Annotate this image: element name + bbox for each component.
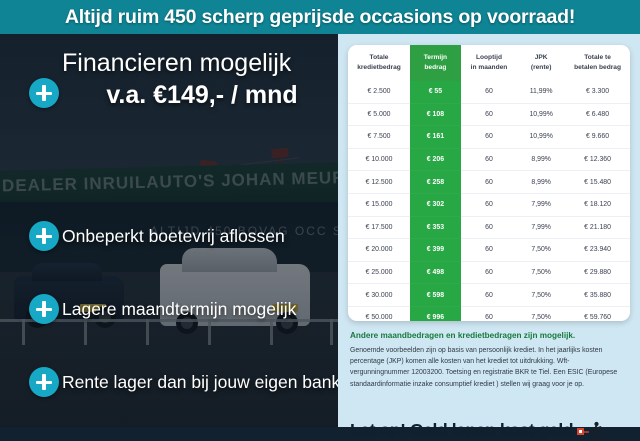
- cell-looptijd: 60: [461, 81, 517, 103]
- cell-totaal: € 35.880: [565, 284, 630, 307]
- cell-jkp: 7,50%: [517, 239, 565, 262]
- table-row: € 10.000€ 206608,99%€ 12.360: [348, 148, 630, 171]
- cell-looptijd: 60: [461, 103, 517, 126]
- cell-krediet: € 7.500: [348, 126, 410, 149]
- cell-termijn: € 353: [410, 216, 461, 239]
- plus-circle-icon: [29, 367, 59, 397]
- cell-jkp: 11,99%: [517, 81, 565, 103]
- cell-totaal: € 59.760: [565, 306, 630, 321]
- table-row: € 5.000€ 1086010,99%€ 6.480: [348, 103, 630, 126]
- cell-totaal: € 9.660: [565, 126, 630, 149]
- cell-jkp: 10,99%: [517, 103, 565, 126]
- cell-totaal: € 12.360: [565, 148, 630, 171]
- disclaimer-title: Andere maandbedragen en kredietbedragen …: [350, 331, 628, 340]
- cell-termijn: € 399: [410, 239, 461, 262]
- cell-krediet: € 10.000: [348, 148, 410, 171]
- table-row: € 25.000€ 498607,50%€ 29.880: [348, 261, 630, 284]
- cell-termijn: € 302: [410, 193, 461, 216]
- running-man-icon: [577, 421, 603, 441]
- finance-table-card: Totale kredietbedrag Termijn bedrag Loop…: [348, 45, 630, 321]
- cell-krediet: € 17.500: [348, 216, 410, 239]
- plus-circle-icon: [29, 221, 59, 251]
- cell-totaal: € 6.480: [565, 103, 630, 126]
- finance-table-body: € 2.500€ 556011,99%€ 3.300€ 5.000€ 10860…: [348, 81, 630, 321]
- plus-circle-icon: [29, 294, 59, 324]
- cell-termijn: € 258: [410, 171, 461, 194]
- promo-headline: Financieren mogelijk v.a. €149,- / mnd: [62, 50, 342, 109]
- cell-jkp: 7,50%: [517, 306, 565, 321]
- col-header-totaal: Totale te betalen bedrag: [565, 45, 630, 81]
- cell-looptijd: 60: [461, 216, 517, 239]
- cell-krediet: € 30.000: [348, 284, 410, 307]
- table-row: € 12.500€ 258608,99%€ 15.480: [348, 171, 630, 194]
- cell-totaal: € 23.940: [565, 239, 630, 262]
- cell-jkp: 7,50%: [517, 261, 565, 284]
- disclaimer-body: Genoemde voorbeelden zijn op basis van p…: [350, 345, 628, 390]
- credit-warning: Let op! Geld lenen kost geld: [350, 420, 628, 441]
- cell-totaal: € 3.300: [565, 81, 630, 103]
- cell-termijn: € 598: [410, 284, 461, 307]
- table-row: € 30.000€ 598607,50%€ 35.880: [348, 284, 630, 307]
- promo-headline-line2: v.a. €149,- / mnd: [62, 82, 342, 108]
- finance-table: Totale kredietbedrag Termijn bedrag Loop…: [348, 45, 630, 321]
- cell-termijn: € 498: [410, 261, 461, 284]
- table-row: € 50.000€ 996607,50%€ 59.760: [348, 306, 630, 321]
- cell-krediet: € 2.500: [348, 81, 410, 103]
- cell-totaal: € 18.120: [565, 193, 630, 216]
- cell-looptijd: 60: [461, 306, 517, 321]
- table-header-row: Totale kredietbedrag Termijn bedrag Loop…: [348, 45, 630, 81]
- promo-headline-line1: Financieren mogelijk: [62, 49, 291, 77]
- cell-looptijd: 60: [461, 148, 517, 171]
- cell-totaal: € 21.180: [565, 216, 630, 239]
- benefits-list: Financieren mogelijk v.a. €149,- / mnd O…: [0, 34, 345, 427]
- cell-krediet: € 25.000: [348, 261, 410, 284]
- cell-jkp: 7,99%: [517, 216, 565, 239]
- cell-termijn: € 55: [410, 81, 461, 103]
- finance-table-head: Totale kredietbedrag Termijn bedrag Loop…: [348, 45, 630, 81]
- promo-banner: Altijd ruim 450 scherp geprijsde occasio…: [0, 0, 640, 34]
- cell-looptijd: 60: [461, 261, 517, 284]
- cell-jkp: 8,99%: [517, 148, 565, 171]
- cell-termijn: € 996: [410, 306, 461, 321]
- col-header-jkp: JPK (rente): [517, 45, 565, 81]
- cell-jkp: 10,99%: [517, 126, 565, 149]
- cell-looptijd: 60: [461, 126, 517, 149]
- plus-circle-icon: [29, 78, 59, 108]
- table-row: € 7.500€ 1616010,99%€ 9.660: [348, 126, 630, 149]
- cell-krediet: € 5.000: [348, 103, 410, 126]
- cell-krediet: € 50.000: [348, 306, 410, 321]
- cell-looptijd: 60: [461, 284, 517, 307]
- cell-krediet: € 15.000: [348, 193, 410, 216]
- cell-looptijd: 60: [461, 193, 517, 216]
- table-row: € 15.000€ 302607,99%€ 18.120: [348, 193, 630, 216]
- table-row: € 20.000€ 399607,50%€ 23.940: [348, 239, 630, 262]
- benefit-item-1: Onbeperkt boetevrij aflossen: [62, 226, 285, 247]
- cell-jkp: 7,99%: [517, 193, 565, 216]
- cell-termijn: € 206: [410, 148, 461, 171]
- cell-krediet: € 20.000: [348, 239, 410, 262]
- table-row: € 2.500€ 556011,99%€ 3.300: [348, 81, 630, 103]
- cell-looptijd: 60: [461, 239, 517, 262]
- cell-totaal: € 15.480: [565, 171, 630, 194]
- disclaimer-block: Andere maandbedragen en kredietbedragen …: [350, 331, 628, 390]
- table-row: € 17.500€ 353607,99%€ 21.180: [348, 216, 630, 239]
- cell-jkp: 7,50%: [517, 284, 565, 307]
- benefit-item-2: Lagere maandtermijn mogelijk: [62, 299, 296, 320]
- cell-termijn: € 161: [410, 126, 461, 149]
- cell-termijn: € 108: [410, 103, 461, 126]
- promo-banner-text: Altijd ruim 450 scherp geprijsde occasio…: [65, 6, 575, 29]
- col-header-looptijd: Looptijd in maanden: [461, 45, 517, 81]
- cell-totaal: € 29.880: [565, 261, 630, 284]
- cell-krediet: € 12.500: [348, 171, 410, 194]
- col-header-krediet: Totale kredietbedrag: [348, 45, 410, 81]
- benefit-item-3: Rente lager dan bij jouw eigen bank: [62, 372, 340, 393]
- finance-info-panel: Totale kredietbedrag Termijn bedrag Loop…: [338, 34, 640, 427]
- cell-looptijd: 60: [461, 171, 517, 194]
- cell-jkp: 8,99%: [517, 171, 565, 194]
- col-header-termijn: Termijn bedrag: [410, 45, 461, 81]
- credit-warning-text: Let op! Geld lenen kost geld: [350, 420, 573, 441]
